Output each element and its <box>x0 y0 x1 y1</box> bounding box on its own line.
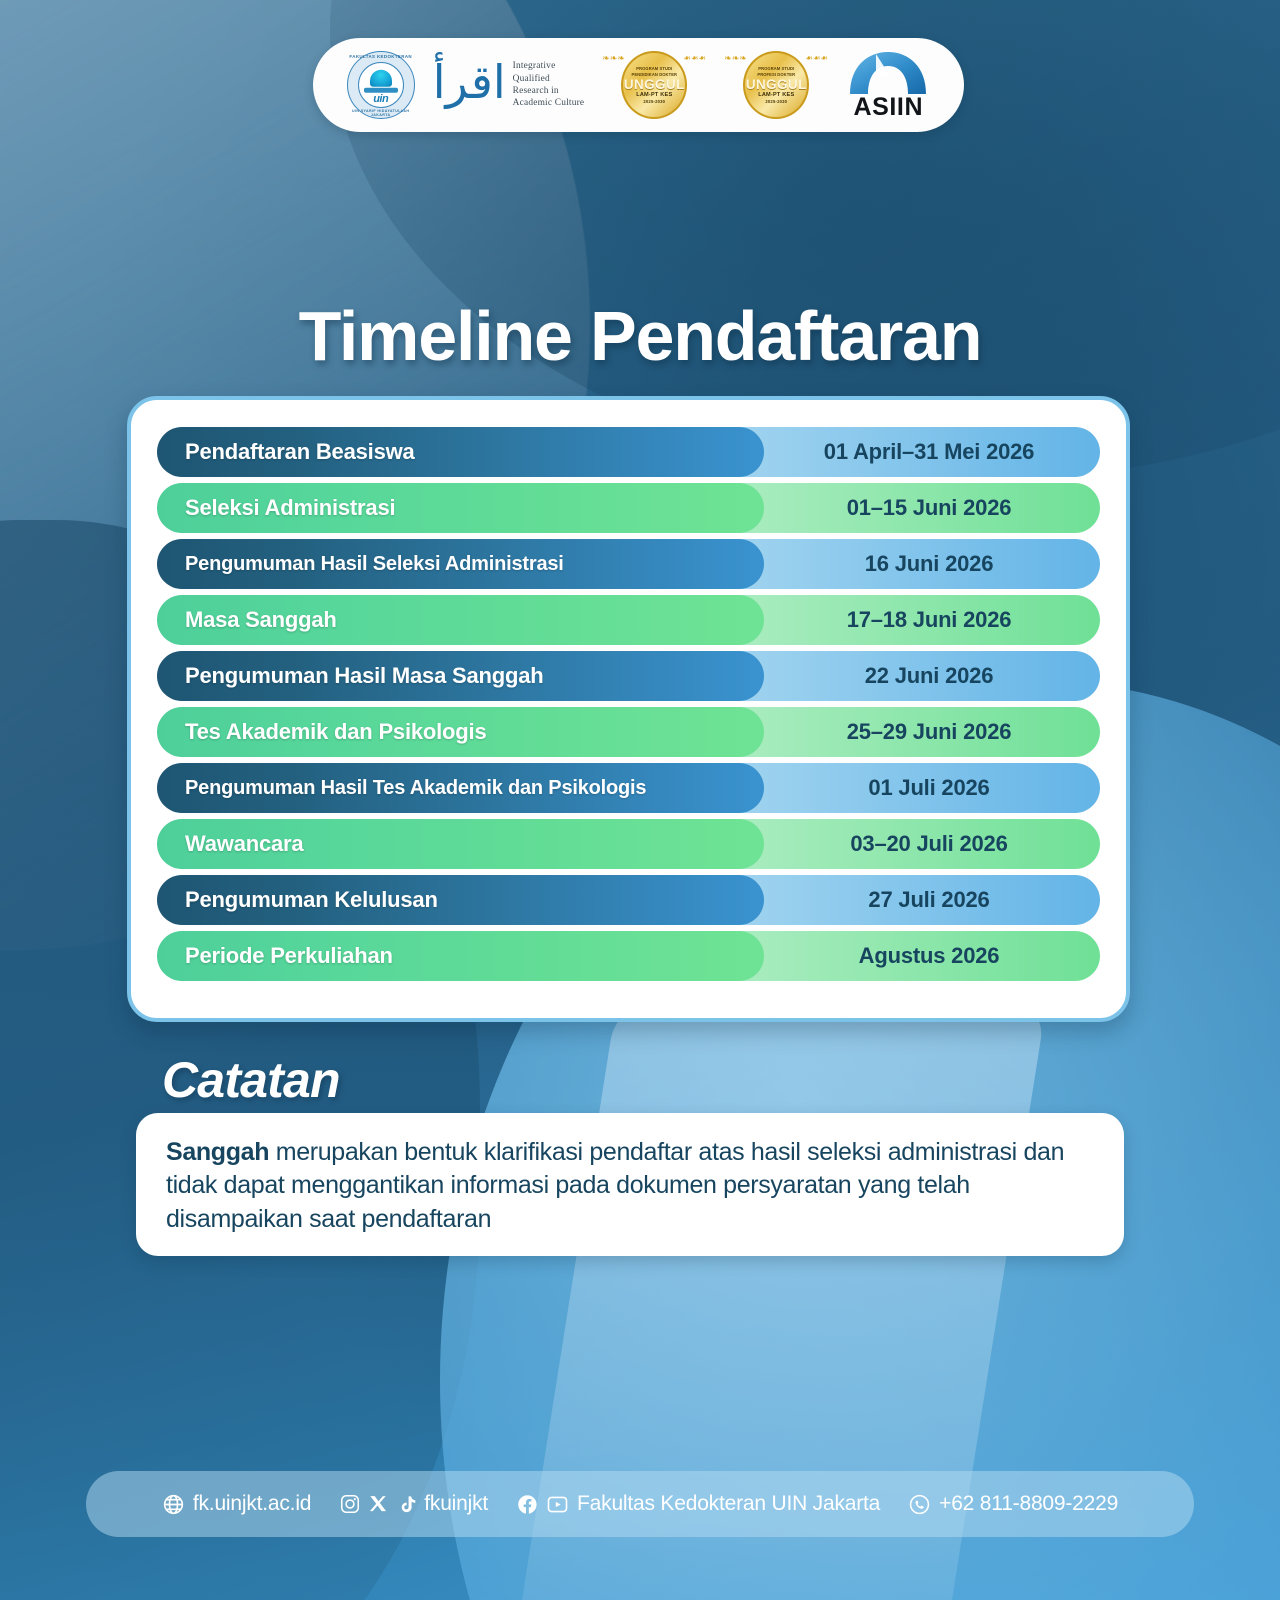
seal-bottom-text: UIN SYARIF HIDAYATULLAH JAKARTA <box>347 109 415 117</box>
timeline-row-pill: Masa Sanggah <box>157 595 764 645</box>
seal-top-text: FAKULTAS KEDOKTERAN <box>347 54 415 59</box>
timeline-row-label: Wawancara <box>185 831 303 857</box>
youtube-icon[interactable] <box>546 1493 569 1516</box>
timeline-row-label: Pengumuman Kelulusan <box>185 887 438 913</box>
globe-icon <box>162 1493 185 1516</box>
page-title: Timeline Pendaftaran <box>0 296 1280 376</box>
timeline-card: Pendaftaran Beasiswa01 April–31 Mei 2026… <box>127 396 1130 1022</box>
timeline-row-date-area: 16 Juni 2026 <box>764 551 1100 577</box>
instagram-icon[interactable] <box>339 1493 361 1515</box>
timeline-row: Tes Akademik dan Psikologis25–29 Juni 20… <box>157 707 1100 757</box>
footer-whatsapp-group[interactable]: +62 811-8809-2229 <box>908 1492 1118 1516</box>
timeline-row-pill: Pengumuman Hasil Tes Akademik dan Psikol… <box>157 763 764 813</box>
timeline-row: Pengumuman Hasil Tes Akademik dan Psikol… <box>157 763 1100 813</box>
footer-contact-bar: fk.uinjkt.ac.id fkuinjkt <box>86 1471 1194 1537</box>
footer-page-name-text: Fakultas Kedokteran UIN Jakarta <box>577 1492 880 1516</box>
timeline-row-label: Periode Perkuliahan <box>185 943 393 969</box>
accreditation-badge-pendidikan-dokter: ❧❧❧❧❧❧ ❧❧❧❧❧❧ PROGRAM STUDI PENDIDIKAN D… <box>602 48 706 122</box>
timeline-row: Pengumuman Hasil Seleksi Administrasi16 … <box>157 539 1100 589</box>
iqra-logo: اقرأ Integrative Qualified Research in A… <box>433 59 585 111</box>
iqra-line-2: Qualified <box>513 73 585 85</box>
timeline-row-date: 01–15 Juni 2026 <box>847 495 1012 521</box>
timeline-row-date-area: 01–15 Juni 2026 <box>764 495 1100 521</box>
header-logo-bar: FAKULTAS KEDOKTERAN UIN SYARIF HIDAYATUL… <box>313 38 964 132</box>
badge-agency: LAM-PT KES <box>636 92 672 98</box>
timeline-row: Pengumuman Kelulusan27 Juli 2026 <box>157 875 1100 925</box>
uin-seal-logo: FAKULTAS KEDOKTERAN UIN SYARIF HIDAYATUL… <box>347 51 415 119</box>
badge-oval: PROGRAM STUDI PENDIDIKAN DOKTER UNGGUL L… <box>621 51 687 119</box>
badge-oval: PROGRAM STUDI PROFESI DOKTER UNGGUL LAM-… <box>743 51 809 119</box>
social-icon-set <box>339 1493 416 1515</box>
uin-wordmark: uin <box>364 93 398 105</box>
footer-page-group[interactable]: Fakultas Kedokteran UIN Jakarta <box>516 1492 880 1516</box>
timeline-row-date: 01 April–31 Mei 2026 <box>824 439 1034 465</box>
laurel-right-icon: ❧❧❧❧❧❧ <box>806 54 828 116</box>
timeline-row-date: 03–20 Juli 2026 <box>850 831 1007 857</box>
timeline-row-date-area: 27 Juli 2026 <box>764 887 1100 913</box>
timeline-row-date-area: 01 Juli 2026 <box>764 775 1100 801</box>
iqra-line-1: Integrative <box>513 60 585 72</box>
timeline-row-date: 01 Juli 2026 <box>868 775 989 801</box>
badge-grade: UNGGUL <box>746 78 807 92</box>
badge-period: 2025-2030 <box>765 99 787 104</box>
dome-shape <box>370 70 392 87</box>
asiin-arch-icon <box>846 50 930 94</box>
timeline-row-date: 22 Juni 2026 <box>865 663 993 689</box>
timeline-row-label: Seleksi Administrasi <box>185 495 395 521</box>
arabic-iqra-text: اقرأ <box>433 59 506 111</box>
catatan-body: merupakan bentuk klarifikasi pendaftar a… <box>166 1138 1064 1233</box>
timeline-row-pill: Tes Akademik dan Psikologis <box>157 707 764 757</box>
footer-social-handle-text: fkuinjkt <box>424 1492 488 1516</box>
timeline-row: Pengumuman Hasil Masa Sanggah22 Juni 202… <box>157 651 1100 701</box>
accreditation-badge-profesi-dokter: ❧❧❧❧❧❧ ❧❧❧❧❧❧ PROGRAM STUDI PROFESI DOKT… <box>724 48 828 122</box>
badge-agency: LAM-PT KES <box>758 92 794 98</box>
whatsapp-icon <box>908 1493 931 1516</box>
timeline-row-pill: Pengumuman Hasil Seleksi Administrasi <box>157 539 764 589</box>
timeline-row-date-area: 03–20 Juli 2026 <box>764 831 1100 857</box>
tiktok-icon[interactable] <box>396 1494 416 1515</box>
timeline-row: Pendaftaran Beasiswa01 April–31 Mei 2026 <box>157 427 1100 477</box>
timeline-row-date-area: 22 Juni 2026 <box>764 663 1100 689</box>
asiin-wordmark: ASIIN <box>853 95 923 120</box>
timeline-row-pill: Pengumuman Hasil Masa Sanggah <box>157 651 764 701</box>
badge-period: 2025-2030 <box>643 99 665 104</box>
timeline-row-date: 27 Juli 2026 <box>868 887 989 913</box>
timeline-row-date-area: Agustus 2026 <box>764 943 1100 969</box>
timeline-row-date-area: 01 April–31 Mei 2026 <box>764 439 1100 465</box>
x-twitter-icon[interactable] <box>368 1494 389 1515</box>
catatan-text: Sanggah merupakan bentuk klarifikasi pen… <box>166 1136 1094 1236</box>
asiin-logo: ASIIN <box>846 50 930 120</box>
catatan-card: Sanggah merupakan bentuk klarifikasi pen… <box>136 1113 1124 1256</box>
timeline-row-label: Pendaftaran Beasiswa <box>185 439 415 465</box>
page-icon-set <box>516 1493 569 1516</box>
poster-root: FAKULTAS KEDOKTERAN UIN SYARIF HIDAYATUL… <box>0 0 1280 1600</box>
timeline-row-label: Tes Akademik dan Psikologis <box>185 719 486 745</box>
iqra-line-3: Research in <box>513 85 585 97</box>
footer-website-text: fk.uinjkt.ac.id <box>193 1492 311 1516</box>
badge-program-line-1: PROGRAM STUDI <box>636 66 672 71</box>
catatan-heading: Catatan <box>162 1051 340 1109</box>
badge-grade: UNGGUL <box>624 78 685 92</box>
timeline-row: Periode PerkuliahanAgustus 2026 <box>157 931 1100 981</box>
timeline-row-date: 25–29 Juni 2026 <box>847 719 1012 745</box>
timeline-row-label: Masa Sanggah <box>185 607 337 633</box>
catatan-bold-lead: Sanggah <box>166 1138 269 1166</box>
timeline-row-pill: Pendaftaran Beasiswa <box>157 427 764 477</box>
footer-whatsapp-text: +62 811-8809-2229 <box>939 1492 1118 1516</box>
timeline-row-date-area: 25–29 Juni 2026 <box>764 719 1100 745</box>
timeline-row-pill: Wawancara <box>157 819 764 869</box>
badge-program-line-1: PROGRAM STUDI <box>758 66 794 71</box>
dome-icon: uin <box>364 69 398 99</box>
footer-social-group[interactable]: fkuinjkt <box>339 1492 488 1516</box>
footer-website-group[interactable]: fk.uinjkt.ac.id <box>162 1492 311 1516</box>
timeline-row-date: 17–18 Juni 2026 <box>847 607 1012 633</box>
timeline-row-label: Pengumuman Hasil Tes Akademik dan Psikol… <box>185 777 646 800</box>
timeline-row: Wawancara03–20 Juli 2026 <box>157 819 1100 869</box>
timeline-row-pill: Periode Perkuliahan <box>157 931 764 981</box>
timeline-row-label: Pengumuman Hasil Seleksi Administrasi <box>185 553 564 576</box>
iqra-tagline: Integrative Qualified Research in Academ… <box>513 60 585 110</box>
timeline-row-pill: Seleksi Administrasi <box>157 483 764 533</box>
timeline-row-label: Pengumuman Hasil Masa Sanggah <box>185 663 544 689</box>
timeline-row: Seleksi Administrasi01–15 Juni 2026 <box>157 483 1100 533</box>
timeline-row-date-area: 17–18 Juni 2026 <box>764 607 1100 633</box>
timeline-row-list: Pendaftaran Beasiswa01 April–31 Mei 2026… <box>157 427 1100 981</box>
timeline-row-date: 16 Juni 2026 <box>865 551 993 577</box>
timeline-row-pill: Pengumuman Kelulusan <box>157 875 764 925</box>
facebook-icon[interactable] <box>516 1493 539 1516</box>
timeline-row: Masa Sanggah17–18 Juni 2026 <box>157 595 1100 645</box>
laurel-right-icon: ❧❧❧❧❧❧ <box>684 54 706 116</box>
timeline-row-date: Agustus 2026 <box>859 943 1000 969</box>
iqra-line-4: Academic Culture <box>513 97 585 109</box>
